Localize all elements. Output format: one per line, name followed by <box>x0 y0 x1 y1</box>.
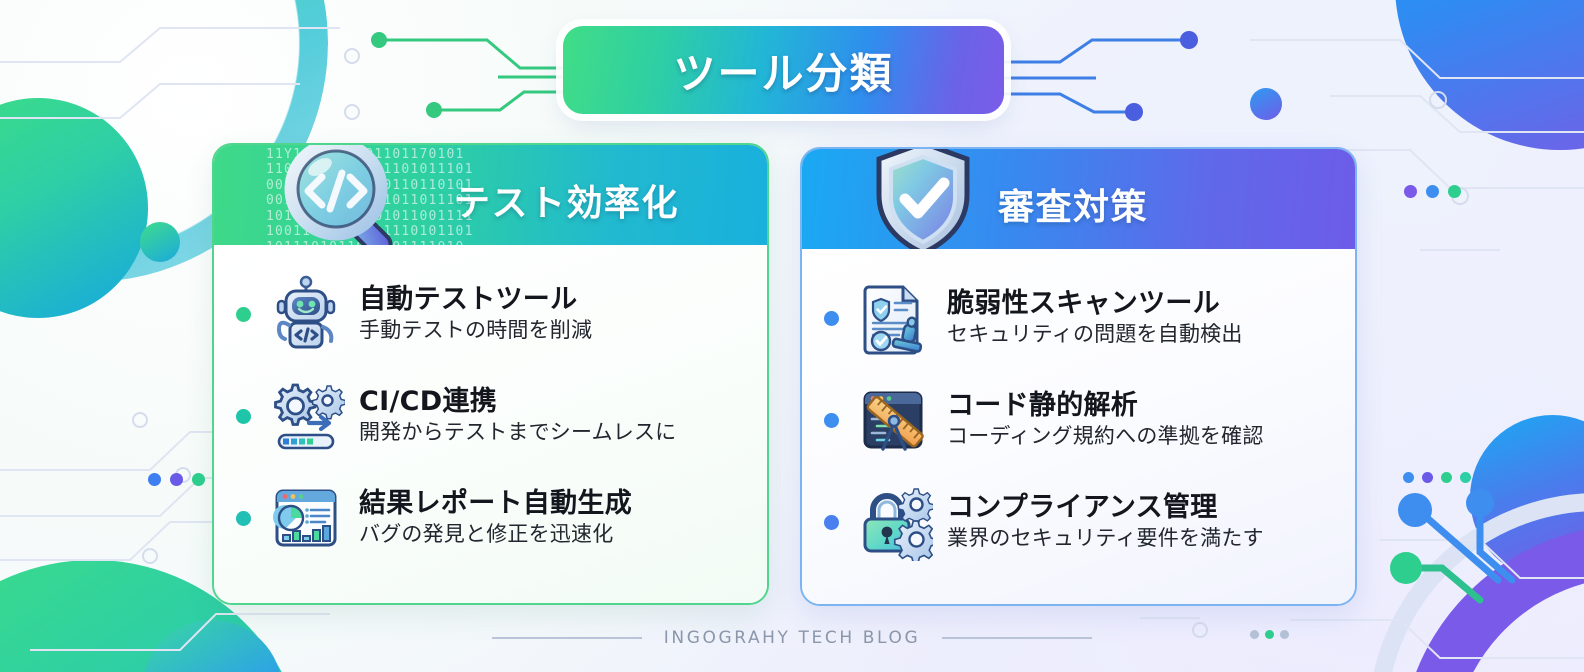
bullet-dot <box>824 515 839 530</box>
bullet-dot <box>236 409 251 424</box>
title-label: ツール分類 <box>673 40 893 101</box>
bullet-dot <box>824 413 839 428</box>
card-right-body: 脆弱性スキャンツール セキュリティの問題を自動検出 <box>802 249 1355 606</box>
connector-node-blue-b <box>1466 489 1494 517</box>
dots-bottom-right <box>1403 472 1471 483</box>
list-item[interactable]: コンプライアンス管理 業界のセキュリティ要件を満たす <box>802 471 1355 573</box>
list-item[interactable]: コード静的解析 コーディング規約への準拠を確認 <box>802 369 1355 471</box>
list-item-text: コンプライアンス管理 業界のセキュリティ要件を満たす <box>947 492 1264 551</box>
document-stamp-icon <box>855 279 933 357</box>
card-left-body: 自動テストツール 手動テストの時間を削減 <box>214 245 767 605</box>
list-item-title: 自動テストツール <box>359 284 592 315</box>
circuit-node-blue-1 <box>1180 31 1198 49</box>
list-item-subtitle: 手動テストの時間を削減 <box>359 318 592 343</box>
footer-divider-right <box>942 637 1092 639</box>
list-item-title: CI/CD連携 <box>359 386 676 417</box>
report-dashboard-icon <box>267 479 345 557</box>
gears-pipeline-icon <box>267 377 345 455</box>
list-item-subtitle: セキュリティの問題を自動検出 <box>947 322 1243 347</box>
list-item-text: 自動テストツール 手動テストの時間を削減 <box>359 284 592 343</box>
list-item-title: コード静的解析 <box>947 390 1264 421</box>
bullet-dot <box>236 511 251 526</box>
list-item-text: 脆弱性スキャンツール セキュリティの問題を自動検出 <box>947 288 1243 347</box>
list-item-subtitle: 開発からテストまでシームレスに <box>359 420 676 445</box>
list-item-text: CI/CD連携 開発からテストまでシームレスに <box>359 386 676 445</box>
footer-label: INGOGRAHY TECH BLOG <box>664 628 920 648</box>
list-item-text: コード静的解析 コーディング規約への準拠を確認 <box>947 390 1264 449</box>
card-right-title: 審査対策 <box>998 178 1148 230</box>
infographic-canvas: ツール分類 01100110101001011001111 11Y1011011… <box>0 0 1584 672</box>
bullet-dot <box>236 307 251 322</box>
card-test-efficiency: 01100110101001011001111 11Y1011011001101… <box>212 143 769 605</box>
list-item-title: 脆弱性スキャンツール <box>947 288 1243 319</box>
list-item-title: コンプライアンス管理 <box>947 492 1264 523</box>
magnifier-code-icon <box>274 145 414 245</box>
list-item[interactable]: 結果レポート自動生成 バグの発見と修正を迅速化 <box>214 467 767 569</box>
circuit-node-green-1 <box>371 32 387 48</box>
lock-gears-icon <box>855 483 933 561</box>
card-left-title: テスト効率化 <box>454 174 679 226</box>
list-item[interactable]: CI/CD連携 開発からテストまでシームレスに <box>214 365 767 467</box>
card-audit-measures: 審査対策 <box>800 147 1357 606</box>
robot-icon <box>267 275 345 353</box>
page-title: ツール分類 <box>563 26 1004 114</box>
list-item-text: 結果レポート自動生成 バグの発見と修正を迅速化 <box>359 488 632 547</box>
list-item-subtitle: バグの発見と修正を迅速化 <box>359 522 632 547</box>
circuit-node-blue-2 <box>1125 103 1143 121</box>
list-item-title: 結果レポート自動生成 <box>359 488 632 519</box>
shield-check-icon <box>852 149 994 249</box>
connector-node-green <box>1390 552 1422 584</box>
bullet-dot <box>824 311 839 326</box>
list-item[interactable]: 自動テストツール 手動テストの時間を削減 <box>214 263 767 365</box>
circuit-node-green-2 <box>426 102 442 118</box>
list-item[interactable]: 脆弱性スキャンツール セキュリティの問題を自動検出 <box>802 267 1355 369</box>
connector-node-blue-a <box>1398 493 1432 527</box>
list-item-subtitle: 業界のセキュリティ要件を満たす <box>947 526 1264 551</box>
footer-divider-left <box>492 637 642 639</box>
card-right-header: 審査対策 <box>802 149 1355 249</box>
dots-top-right <box>1404 185 1461 198</box>
card-left-header: 01100110101001011001111 11Y1011011001101… <box>214 145 767 245</box>
dots-bottom-left <box>148 473 205 486</box>
code-ruler-icon <box>855 381 933 459</box>
title-pill: ツール分類 <box>563 26 1004 114</box>
footer: INGOGRAHY TECH BLOG <box>0 628 1584 648</box>
list-item-subtitle: コーディング規約への準拠を確認 <box>947 424 1264 449</box>
